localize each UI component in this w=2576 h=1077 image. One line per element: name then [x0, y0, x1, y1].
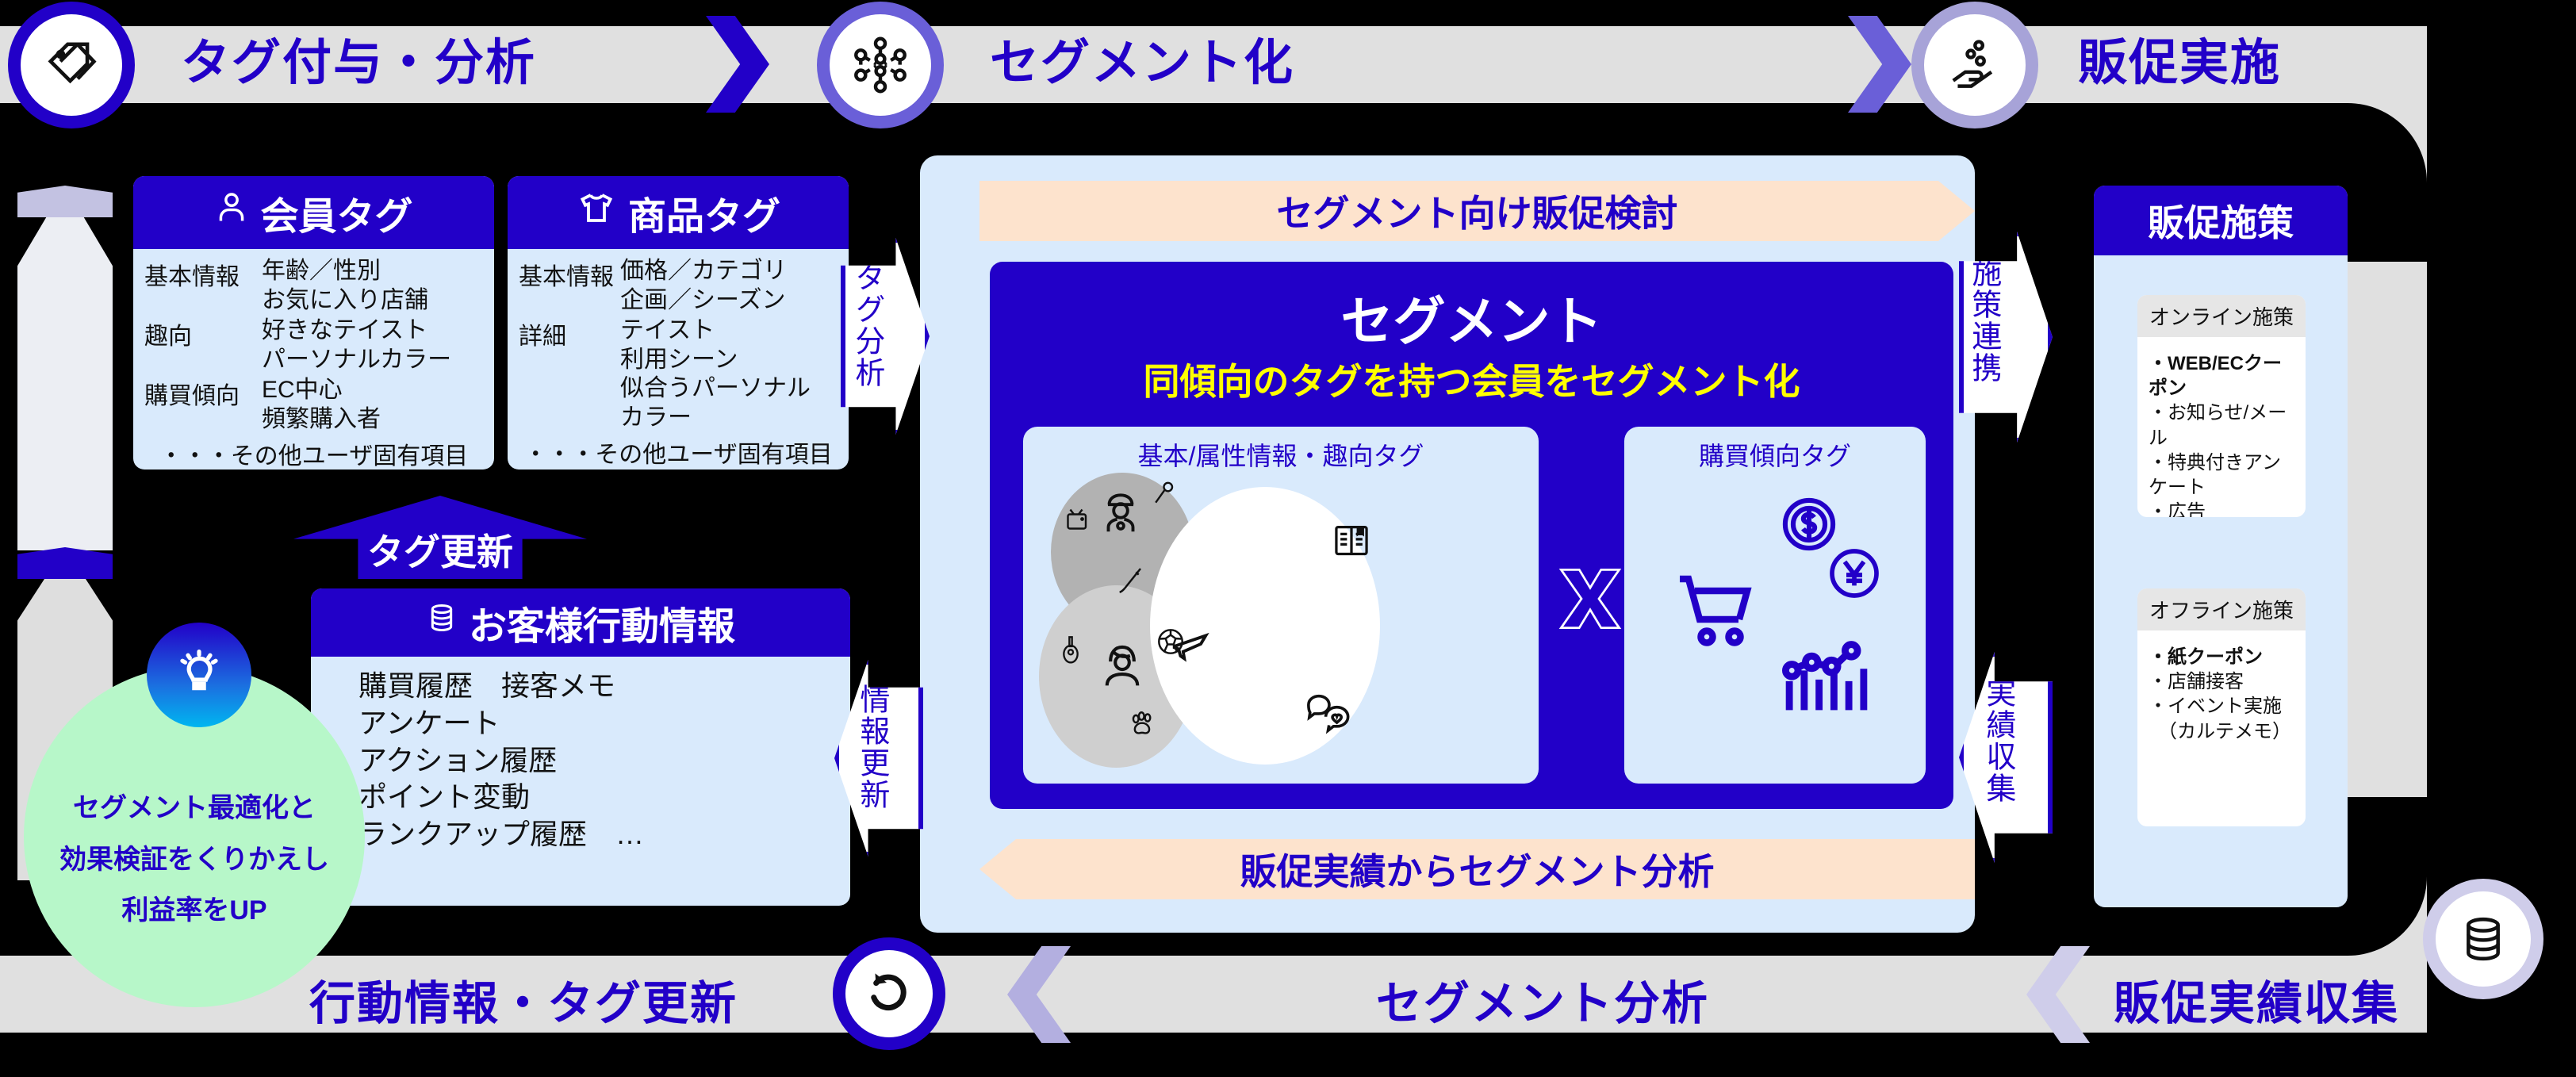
member-tag-value: お気に入り店舗	[262, 286, 483, 316]
microphone-icon	[1150, 476, 1179, 515]
stage-icon-database[interactable]	[2423, 879, 2543, 999]
online-measure-item: ・特典付きアンケート	[2149, 450, 2294, 500]
behavior-item: ポイント変動	[358, 779, 839, 816]
segment-title: セグメント	[990, 279, 1953, 355]
member-tag-row-values: 好きなテイスト パーソナルカラー	[262, 316, 483, 374]
airplane-icon	[1167, 622, 1213, 672]
product-tag-title: 商品タグ	[628, 185, 780, 240]
outer-arrow-up-1	[17, 186, 113, 550]
behavior-item: アンケート	[358, 705, 839, 742]
member-tag-value: 年齢／性別	[262, 257, 483, 286]
connector-measure-link-label: 施策連携	[1967, 257, 1999, 384]
attribute-tags-card: 基本/属性情報・趣向タグ	[1023, 427, 1539, 784]
product-tag-row-values: 価格／カテゴリ 企画／シーズン	[620, 257, 838, 315]
stage-label-result-collection: 販促実績収集	[2114, 966, 2399, 1033]
member-tag-card-header: 会員タグ	[133, 176, 494, 249]
member-tag-row: 趣向 好きなテイスト パーソナルカラー	[144, 316, 483, 374]
stage-icon-refresh[interactable]	[833, 937, 945, 1050]
member-tag-body: 基本情報 年齢／性別 お気に入り店舗 趣向 好きなテイスト パーソナルカラー 購…	[133, 249, 494, 470]
offline-measure-item: （カルテメモ）	[2149, 719, 2294, 744]
product-tag-value: カラー	[620, 404, 838, 433]
offline-measures-title: オフライン施策	[2137, 588, 2306, 630]
cross-multiply-icon	[1547, 555, 1634, 642]
product-tag-row: 基本情報 価格／カテゴリ 企画／シーズン	[519, 257, 838, 315]
behavior-card-header: お客様行動情報	[311, 588, 850, 657]
tag-icon	[42, 36, 101, 94]
member-tag-row-key: 趣向	[144, 316, 262, 374]
member-tag-row-key: 購買傾向	[144, 376, 262, 434]
connector-tag-analysis-label: タグ分析	[850, 262, 882, 389]
paw-print-icon	[1126, 704, 1160, 745]
book-icon	[1331, 520, 1372, 565]
purchase-tags-title: 購買傾向タグ	[1624, 427, 1926, 473]
network-nodes-icon	[850, 35, 910, 95]
member-tag-row: 購買傾向 EC中心 頻繁購入者	[144, 376, 483, 434]
promotion-card-title: 販促施策	[2148, 194, 2294, 247]
chat-heart-icon	[1302, 688, 1355, 738]
member-tag-footer: ・・・その他ユーザ固有項目	[144, 436, 483, 470]
behavior-item: アクション履歴	[358, 742, 839, 780]
segment-subtitle: 同傾向のタグを持つ会員をセグメント化	[990, 353, 1953, 405]
stage-label-tagging: タグ付与・分析	[181, 22, 536, 94]
stage-label-segment-analysis: セグメント分析	[1376, 966, 1709, 1033]
banner-promotion-study: セグメント向け販促検討	[979, 181, 1975, 241]
person-male-icon	[1096, 482, 1145, 546]
person-female-icon	[1096, 633, 1148, 700]
bar-chart-icon	[1775, 623, 1878, 726]
product-tag-value: テイスト	[620, 316, 838, 346]
offline-measure-item: ・紙クーポン	[2149, 645, 2294, 669]
stage-label-promotion: 販促実施	[2078, 22, 2281, 94]
product-tag-row-key: 詳細	[519, 316, 620, 432]
fishing-rod-icon	[1117, 561, 1148, 604]
purchase-tags-card: 購買傾向タグ	[1624, 427, 1926, 784]
product-tag-card-header: 商品タグ	[508, 176, 849, 249]
connector-result-collect-label: 実績収集	[1981, 677, 2013, 804]
online-measures-box: オンライン施策 ・WEB/ECクーポン ・お知らせ/メール ・特典付きアンケート…	[2137, 295, 2306, 517]
tag-update-arrow: タグ更新	[293, 496, 587, 579]
member-tag-row-values: 年齢／性別 お気に入り店舗	[262, 257, 483, 315]
product-tag-body: 基本情報 価格／カテゴリ 企画／シーズン 詳細 テイスト 利用シーン 似合うパー…	[508, 249, 849, 470]
attribute-tags-title: 基本/属性情報・趣向タグ	[1023, 427, 1539, 473]
member-tag-value: パーソナルカラー	[262, 346, 483, 375]
insight-icon-circle	[147, 623, 251, 727]
refresh-cycle-icon	[861, 966, 917, 1021]
product-tag-value: 価格／カテゴリ	[620, 257, 838, 286]
stage-label-behavior-update: 行動情報・タグ更新	[309, 966, 738, 1033]
guitar-icon	[1055, 625, 1087, 676]
database-icon	[2458, 914, 2509, 964]
online-measure-item: ・WEB/ECクーポン	[2149, 351, 2294, 401]
online-measure-item: ・お知らせ/メール	[2149, 401, 2294, 450]
product-tag-card[interactable]: 商品タグ 基本情報 価格／カテゴリ 企画／シーズン 詳細 テイスト 利用シーン …	[508, 176, 849, 470]
outer-arrow-up-2-head	[17, 547, 113, 579]
offline-measure-item: ・イベント実施	[2149, 694, 2294, 719]
online-measure-item: ・広告	[2149, 500, 2294, 517]
member-tag-value: 好きなテイスト	[262, 316, 483, 346]
online-measures-list: ・WEB/ECクーポン ・お知らせ/メール ・特典付きアンケート ・広告	[2137, 337, 2306, 517]
behavior-item: ランクアップ履歴 …	[358, 816, 839, 853]
member-tag-title: 会員タグ	[260, 185, 412, 240]
person-icon	[214, 188, 249, 237]
product-tag-row-values: テイスト 利用シーン 似合うパーソナル カラー	[620, 316, 838, 432]
product-tag-row-key: 基本情報	[519, 257, 620, 315]
offline-measure-item: ・店舗接客	[2149, 669, 2294, 694]
tv-icon	[1064, 506, 1093, 538]
diagram-canvas: タグ付与・分析 セグメント化 販促実施 行動情報・タグ更新	[0, 0, 2576, 1077]
yen-coin-icon	[1823, 542, 1886, 609]
member-tag-value: 頻繁購入者	[262, 405, 483, 435]
stage-icon-segmentation[interactable]	[817, 2, 944, 128]
behavior-title: お客様行動情報	[469, 595, 735, 650]
lightbulb-icon	[171, 646, 227, 705]
outer-arrow-up-1-head	[17, 186, 113, 217]
stage-icon-promotion[interactable]	[1911, 2, 2038, 128]
product-tag-value: 企画／シーズン	[620, 286, 838, 316]
connector-tag-analysis: タグ分析	[841, 238, 930, 435]
tshirt-icon	[576, 189, 617, 236]
behavior-card[interactable]: お客様行動情報 購買履歴 接客メモ アンケート アクション履歴 ポイント変動 ラ…	[311, 588, 850, 906]
product-tag-value: 似合うパーソナル	[620, 374, 838, 404]
insight-line: セグメント最適化と	[73, 783, 316, 834]
offline-measures-list: ・紙クーポン ・店舗接客 ・イベント実施 （カルテメモ）	[2137, 630, 2306, 758]
tag-update-label: タグ更新	[367, 523, 513, 579]
product-tag-row: 詳細 テイスト 利用シーン 似合うパーソナル カラー	[519, 316, 838, 432]
banner-result-analysis: 販促実績からセグメント分析	[979, 839, 1975, 899]
connector-measure-link: 施策連携	[1959, 232, 2053, 443]
offline-measures-box: オフライン施策 ・紙クーポン ・店舗接客 ・イベント実施 （カルテメモ）	[2137, 588, 2306, 826]
behavior-body: 購買履歴 接客メモ アンケート アクション履歴 ポイント変動 ランクアップ履歴 …	[311, 657, 850, 861]
insight-line: 効果検証をくりかえし	[59, 834, 329, 886]
behavior-item: 購買履歴 接客メモ	[358, 668, 839, 705]
member-tag-value: EC中心	[262, 376, 483, 405]
member-tag-row-values: EC中心 頻繁購入者	[262, 376, 483, 434]
member-tag-card[interactable]: 会員タグ 基本情報 年齢／性別 お気に入り店舗 趣向 好きなテイスト パーソナル…	[133, 176, 494, 470]
member-tag-row-key: 基本情報	[144, 257, 262, 315]
shopping-cart-icon	[1666, 561, 1769, 661]
stage-label-segmentation: セグメント化	[990, 22, 1294, 94]
stage-icon-tagging[interactable]	[8, 2, 135, 128]
product-tag-footer: ・・・その他ユーザ固有項目	[519, 435, 838, 470]
product-tag-value: 利用シーン	[620, 346, 838, 375]
hand-coins-icon	[1945, 35, 2005, 95]
online-measures-title: オンライン施策	[2137, 295, 2306, 337]
member-tag-row: 基本情報 年齢／性別 お気に入り店舗	[144, 257, 483, 315]
database-icon	[426, 599, 458, 646]
connector-info-update-label: 情報更新	[855, 684, 887, 811]
promotion-card-header: 販促施策	[2094, 186, 2348, 255]
insight-line: 利益率をUP	[121, 885, 266, 937]
